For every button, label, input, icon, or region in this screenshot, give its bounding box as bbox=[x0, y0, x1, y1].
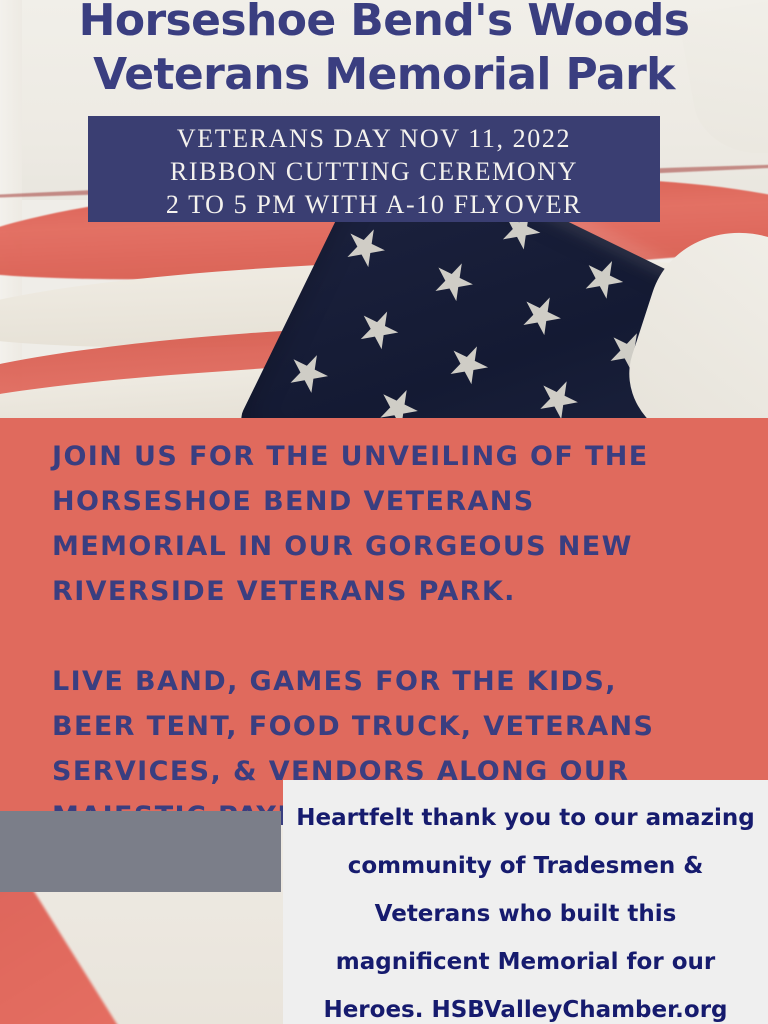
body-p1-line-3: MEMORIAL IN OUR GORGEOUS NEW bbox=[52, 524, 752, 569]
flag-star-icon bbox=[577, 252, 630, 305]
flag-star-icon bbox=[281, 346, 334, 399]
gray-accent-bar bbox=[0, 811, 281, 892]
poster-title-line-2: Veterans Memorial Park bbox=[0, 48, 768, 102]
body-p1-line-1: JOIN US FOR THE UNVEILING OF THE bbox=[52, 434, 752, 479]
body-p2-line-1: LIVE BAND, GAMES FOR THE KIDS, bbox=[52, 659, 752, 704]
coral-body-section: JOIN US FOR THE UNVEILING OF THE HORSESH… bbox=[0, 418, 768, 811]
event-time-line: 2 TO 5 PM WITH A-10 FLYOVER bbox=[88, 188, 660, 221]
coral-body-text: JOIN US FOR THE UNVEILING OF THE HORSESH… bbox=[52, 434, 752, 839]
thanks-line-3: Veterans who built this bbox=[293, 890, 758, 938]
flag-star-icon bbox=[371, 381, 424, 420]
paragraph-spacer bbox=[52, 614, 752, 659]
thanks-line-1: Heartfelt thank you to our amazing bbox=[293, 794, 758, 842]
thanks-line-5-website[interactable]: Heroes. HSBValleyChamber.org bbox=[293, 986, 758, 1024]
flag-star-icon bbox=[514, 289, 567, 342]
flag-star-icon bbox=[352, 303, 405, 356]
thanks-line-2: community of Tradesmen & bbox=[293, 842, 758, 890]
event-details-box: VETERANS DAY NOV 11, 2022 RIBBON CUTTING… bbox=[88, 116, 660, 222]
poster-title: Horseshoe Bend's Woods Veterans Memorial… bbox=[0, 0, 768, 102]
poster-title-line-1: Horseshoe Bend's Woods bbox=[0, 0, 768, 48]
thanks-line-4: magnificent Memorial for our bbox=[293, 938, 758, 986]
body-paragraph-1: JOIN US FOR THE UNVEILING OF THE HORSESH… bbox=[52, 434, 752, 614]
flag-star-icon bbox=[338, 221, 391, 274]
event-date-line: VETERANS DAY NOV 11, 2022 bbox=[88, 122, 660, 155]
thank-you-panel: Heartfelt thank you to our amazing commu… bbox=[283, 780, 768, 1024]
veterans-day-event-poster: Horseshoe Bend's Woods Veterans Memorial… bbox=[0, 0, 768, 1024]
body-p2-line-2: BEER TENT, FOOD TRUCK, VETERANS bbox=[52, 704, 752, 749]
body-p1-line-2: HORSESHOE BEND VETERANS bbox=[52, 479, 752, 524]
flag-star-icon bbox=[441, 338, 494, 391]
event-ceremony-line: RIBBON CUTTING CEREMONY bbox=[88, 155, 660, 188]
flag-star-icon bbox=[426, 255, 479, 308]
body-p1-line-4: RIVERSIDE VETERANS PARK. bbox=[52, 569, 752, 614]
flag-star-icon bbox=[531, 373, 584, 420]
